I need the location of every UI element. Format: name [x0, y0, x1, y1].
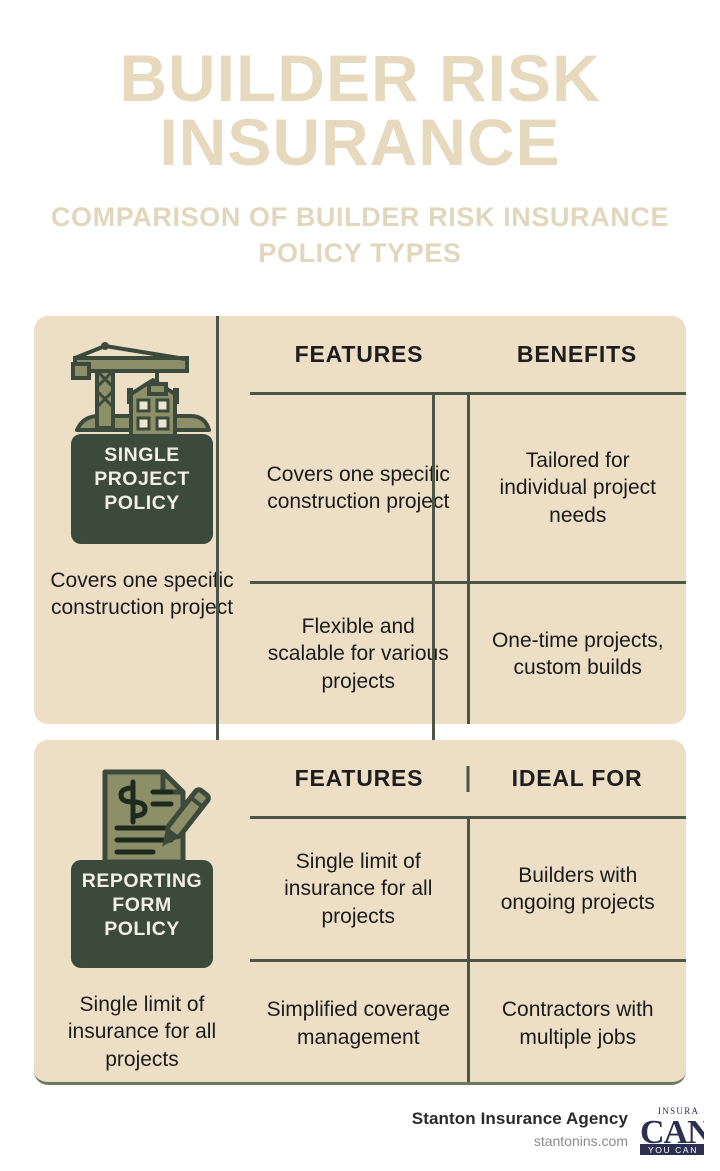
column-header-features: FEATURES: [250, 316, 468, 392]
cell-benefits: One-time projects, custom builds: [470, 584, 687, 724]
page-subtitle: COMPARISON OF BUILDER RISK INSURANCE POL…: [0, 200, 720, 272]
badge-label: REPORTING FORM POLICY: [67, 870, 217, 941]
page-header: BUILDER RISK INSURANCE COMPARISON OF BUI…: [0, 0, 720, 272]
page-title: BUILDER RISK INSURANCE: [0, 46, 720, 174]
icon-caption: Single limit of insurance for all projec…: [34, 991, 250, 1073]
document-with-pen-icon: REPORTING FORM POLICY: [67, 762, 217, 977]
table-body: Covers one specific construction project…: [250, 395, 686, 724]
cell-features: Single limit of insurance for all projec…: [250, 819, 470, 959]
cell-ideal-for: Contractors with multiple jobs: [470, 962, 687, 1085]
agency-name: Stanton Insurance Agency: [412, 1109, 628, 1129]
column-divider-outer: [216, 316, 219, 740]
column-header-benefits: BENEFITS: [468, 316, 686, 392]
footer: Stanton Insurance Agency stantonins.com …: [412, 1103, 704, 1155]
cell-features: Covers one specific construction project: [250, 395, 470, 581]
icon-column: REPORTING FORM POLICY Single limit of in…: [34, 740, 250, 1082]
insurance-agency-logo: INSURA CAN YOU CAN: [640, 1103, 704, 1155]
website-url: stantonins.com: [412, 1133, 628, 1149]
column-header-features: FEATURES: [250, 740, 468, 816]
policy-card-reporting-form: REPORTING FORM POLICY Single limit of in…: [34, 740, 686, 1085]
table-row: Covers one specific construction project…: [250, 395, 686, 584]
cell-benefits: Tailored for individual project needs: [470, 395, 687, 581]
logo-bottom-text: YOU CAN: [648, 1145, 698, 1155]
table-body: Single limit of insurance for all projec…: [250, 819, 686, 1082]
badge-label: SINGLE PROJECT POLICY: [67, 444, 217, 515]
cell-features: Flexible and scalable for various projec…: [250, 584, 470, 724]
table-row: Single limit of insurance for all projec…: [250, 819, 686, 962]
table-row: Simplified coverage management Contracto…: [250, 962, 686, 1085]
cell-features: Simplified coverage management: [250, 962, 470, 1085]
construction-crane-icon: SINGLE PROJECT POLICY: [67, 338, 217, 553]
header-divider-tick: [467, 766, 470, 792]
column-header-ideal-for: IDEAL FOR: [468, 740, 686, 816]
policy-card-single-project: SINGLE PROJECT POLICY Covers one specifi…: [34, 316, 686, 724]
cell-ideal-for: Builders with ongoing projects: [470, 819, 687, 959]
column-divider-inner: [432, 395, 435, 740]
table-header-row: FEATURES BENEFITS: [250, 316, 686, 395]
table-header-row: FEATURES IDEAL FOR: [250, 740, 686, 819]
table-row: Flexible and scalable for various projec…: [250, 584, 686, 724]
footer-text-block: Stanton Insurance Agency stantonins.com: [412, 1109, 628, 1149]
